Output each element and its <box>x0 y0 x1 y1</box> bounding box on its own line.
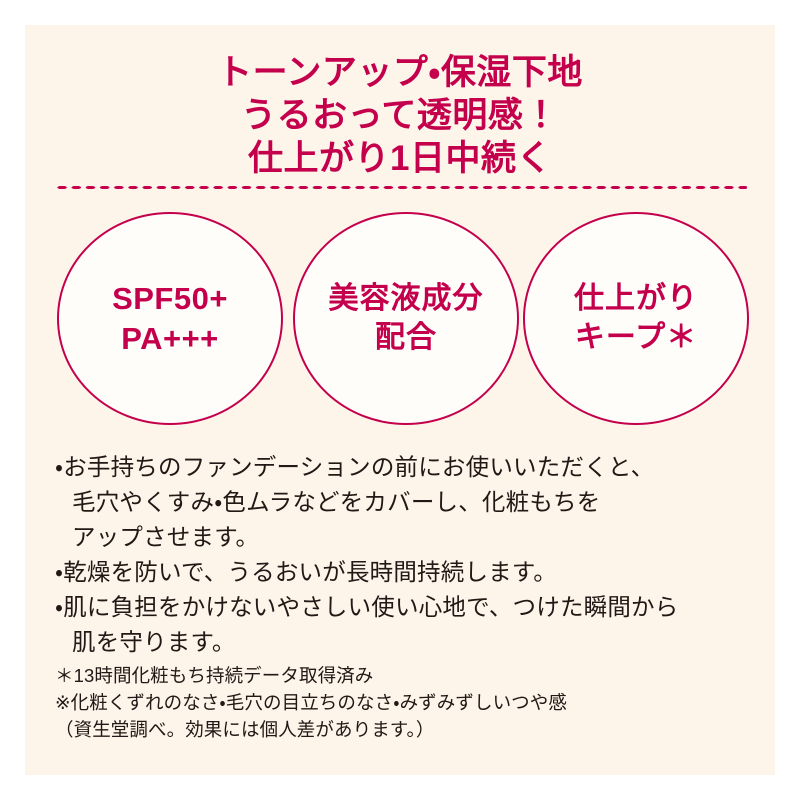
benefit-line: アップさせます。 <box>55 520 755 555</box>
benefit-line: ・肌に負担をかけないやさしい使い心地で、つけた瞬間から <box>55 590 755 625</box>
headline-line-3: 仕上がり1日中続く <box>25 137 775 180</box>
benefit-item: ・肌に負担をかけないやさしい使い心地で、つけた瞬間から 肌を守ります。 <box>55 590 755 660</box>
footnote-line-1: ＊13時間化粧もち持続データ取得済み <box>55 662 755 689</box>
headline: トーンアップ・保湿下地 うるおって透明感！ 仕上がり1日中続く <box>25 51 775 180</box>
badge-line-1: 仕上がり <box>574 280 698 318</box>
content-panel: トーンアップ・保湿下地 うるおって透明感！ 仕上がり1日中続く SPF50+ P… <box>25 25 775 775</box>
badge-line-2: 配合 <box>329 319 484 357</box>
benefit-line: 毛穴やくすみ・色ムラなどをカバーし、化粧もちを <box>55 485 755 520</box>
headline-line-2: うるおって透明感！ <box>25 94 775 137</box>
badge-line-2: キープ＊ <box>574 319 698 357</box>
benefit-item: ・お手持ちのファンデーションの前にお使いいただくと、 毛穴やくすみ・色ムラなどを… <box>55 450 755 555</box>
product-feature-infographic: トーンアップ・保湿下地 うるおって透明感！ 仕上がり1日中続く SPF50+ P… <box>0 0 800 800</box>
badge-text: 美容液成分 配合 <box>329 280 484 357</box>
footnote-line-3: （資生堂調べ。効果には個人差があります。） <box>55 716 755 743</box>
footnote-block: ＊13時間化粧もち持続データ取得済み ※化粧くずれのなさ・毛穴の目立ちのなさ・み… <box>55 662 755 743</box>
benefit-list: ・お手持ちのファンデーションの前にお使いいただくと、 毛穴やくすみ・色ムラなどを… <box>55 450 755 660</box>
badge-text: SPF50+ PA+++ <box>112 279 228 358</box>
badge-text: 仕上がり キープ＊ <box>574 280 698 357</box>
feature-badge-spf-pa: SPF50+ PA+++ <box>57 212 283 425</box>
headline-line-1: トーンアップ・保湿下地 <box>25 51 775 94</box>
feature-badge-serum-ingredients: 美容液成分 配合 <box>293 212 519 425</box>
dotted-divider <box>55 185 747 190</box>
benefit-item: ・乾燥を防いで、うるおいが長時間持続します。 <box>55 555 755 590</box>
badge-line-2: PA+++ <box>112 319 228 359</box>
badge-line-1: 美容液成分 <box>329 280 484 318</box>
feature-badge-group: SPF50+ PA+++ 美容液成分 配合 仕上がり キープ＊ <box>25 212 775 427</box>
benefit-line: ・乾燥を防いで、うるおいが長時間持続します。 <box>55 555 755 590</box>
feature-badge-finish-keep: 仕上がり キープ＊ <box>523 212 749 425</box>
benefit-line: 肌を守ります。 <box>55 625 755 660</box>
badge-line-1: SPF50+ <box>112 279 228 319</box>
benefit-line: ・お手持ちのファンデーションの前にお使いいただくと、 <box>55 450 755 485</box>
footnote-line-2: ※化粧くずれのなさ・毛穴の目立ちのなさ・みずみずしいつや感 <box>55 689 755 716</box>
